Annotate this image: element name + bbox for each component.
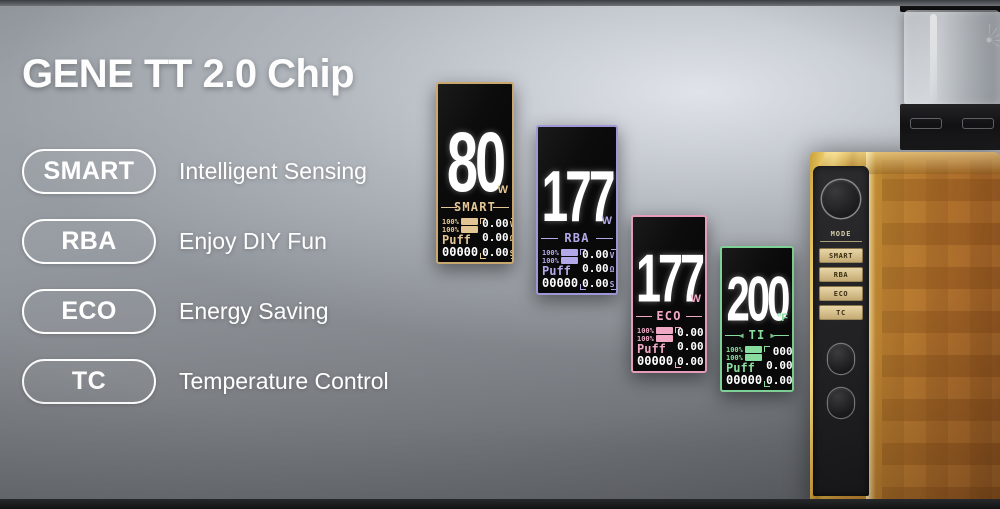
wattage-unit-eco: W	[691, 293, 701, 305]
battery-bar-1-smart	[461, 218, 478, 225]
battery-pct-1-smart: 100%	[442, 218, 459, 226]
puff-count-rba: 00000	[542, 277, 578, 290]
feature-list: SMART Intelligent Sensing RBA Enjoy DIY …	[22, 148, 472, 428]
battery-bar-1-tc	[745, 346, 762, 353]
mode-menu-title: MODE	[813, 230, 869, 238]
mode-label-rba: RBA	[564, 231, 589, 245]
badge-eco: ECO	[22, 289, 156, 334]
mod-texture	[882, 160, 1000, 509]
vape-mod-device: MODE SMART RBA ECO TC	[800, 0, 1000, 509]
reading-1-smart: 0.00V	[482, 218, 514, 230]
reading-2-smart: 0.00Ω	[482, 232, 514, 244]
reading-1-tc: 000W	[773, 346, 794, 358]
battery-bar-row-1-smart: 100%	[442, 218, 478, 226]
product-banner: GENE TT 2.0 Chip SMART Intelligent Sensi…	[0, 0, 1000, 509]
battery-bar-1-rba	[561, 249, 578, 256]
feature-row-eco: ECO Energy Saving	[22, 288, 472, 335]
mod-mode-item-tc[interactable]: TC	[819, 305, 863, 320]
reading-2-rba: 0.00Ω	[582, 263, 614, 275]
mod-body: MODE SMART RBA ECO TC	[810, 152, 1000, 509]
mod-mode-item-eco[interactable]: ECO	[819, 286, 863, 301]
wattage-display-rba: 177 W	[538, 127, 616, 230]
mode-band-smart: SMART	[438, 199, 512, 216]
reading-1-rba: 0.00V	[582, 249, 614, 261]
device-screen-smart: 80 W SMART 100% 100% Puff	[436, 82, 514, 264]
mode-label-smart: SMART	[454, 200, 496, 214]
reading-2-eco: 0.00Ω	[677, 341, 707, 353]
tank-etching-icon	[978, 24, 1000, 56]
reading-2-tc: 0.00S	[766, 360, 794, 372]
top-edge-strip	[0, 0, 1000, 6]
device-screen-rba: 177 W RBA 100% 100% Puff	[536, 125, 618, 295]
mode-band-eco: ECO	[633, 308, 705, 325]
readout-tc: 100% 100% Puff 00000 000W	[722, 344, 792, 390]
badge-smart: SMART	[22, 149, 156, 194]
chevron-left-icon[interactable]: ◀	[739, 331, 744, 340]
battery-pct-1-rba: 100%	[542, 249, 559, 257]
feature-row-rba: RBA Enjoy DIY Fun	[22, 218, 472, 265]
fire-button[interactable]	[822, 180, 860, 218]
badge-tc: TC	[22, 359, 156, 404]
tank-base	[900, 104, 1000, 150]
mode-menu-divider	[820, 241, 862, 245]
reading-3-smart: 0.00S	[482, 247, 514, 259]
mode-band-tc: ◀ TI ▶	[722, 327, 792, 344]
battery-bar-row-1-eco: 100%	[637, 327, 673, 335]
readout-eco: 100% 100% Puff 00000 0.00V	[633, 325, 705, 371]
battery-pct-1-eco: 100%	[637, 327, 654, 335]
feature-desc-smart: Intelligent Sensing	[179, 158, 367, 185]
wattage-value-smart: 80	[447, 130, 503, 197]
temperature-display-tc: 200 °F	[722, 248, 792, 327]
feature-desc-tc: Temperature Control	[179, 368, 389, 395]
reading-1-eco: 0.00V	[677, 327, 707, 339]
mode-band-rba: RBA	[538, 230, 616, 247]
battery-bar-row-1-rba: 100%	[542, 249, 578, 257]
battery-pct-1-tc: 100%	[726, 346, 743, 354]
page-title: GENE TT 2.0 Chip	[22, 52, 354, 97]
wattage-unit-smart: W	[498, 184, 508, 196]
puff-count-smart: 00000	[442, 246, 478, 259]
mod-control-panel: MODE SMART RBA ECO TC	[813, 166, 869, 496]
reading-3-eco: 0.00S	[677, 356, 707, 368]
bottom-edge-strip	[0, 499, 1000, 509]
mode-label-tc: TI	[749, 328, 766, 342]
feature-row-smart: SMART Intelligent Sensing	[22, 148, 472, 195]
wattage-unit-rba: W	[602, 215, 612, 227]
puff-count-eco: 00000	[637, 355, 673, 368]
reading-3-tc: 0.00Ω	[766, 375, 794, 387]
wattage-display-eco: 177 W	[633, 217, 705, 308]
device-screen-eco: 177 W ECO 100% 100% Puff	[631, 215, 707, 373]
mod-mode-item-rba[interactable]: RBA	[819, 267, 863, 282]
device-screen-tc: 200 °F ◀ TI ▶ 100% 100%	[720, 246, 794, 392]
tank-highlight	[930, 14, 937, 102]
mode-label-eco: ECO	[656, 309, 681, 323]
readout-smart: 100% 100% Puff 00000 0.00V	[438, 216, 512, 262]
adjust-up-button[interactable]	[828, 344, 854, 374]
temperature-unit-tc: °F	[777, 312, 788, 324]
puff-count-tc: 00000	[726, 374, 762, 387]
feature-desc-rba: Enjoy DIY Fun	[179, 228, 327, 255]
wattage-display-smart: 80 W	[438, 84, 512, 199]
adjust-down-button[interactable]	[828, 388, 854, 418]
badge-rba: RBA	[22, 219, 156, 264]
feature-desc-eco: Energy Saving	[179, 298, 329, 325]
battery-bar-row-1-tc: 100%	[726, 346, 762, 354]
mod-mode-item-smart[interactable]: SMART	[819, 248, 863, 263]
readout-rba: 100% 100% Puff 00000 0.00V	[538, 247, 616, 293]
feature-row-tc: TC Temperature Control	[22, 358, 472, 405]
battery-bar-1-eco	[656, 327, 673, 334]
reading-3-rba: 0.00S	[582, 278, 614, 290]
